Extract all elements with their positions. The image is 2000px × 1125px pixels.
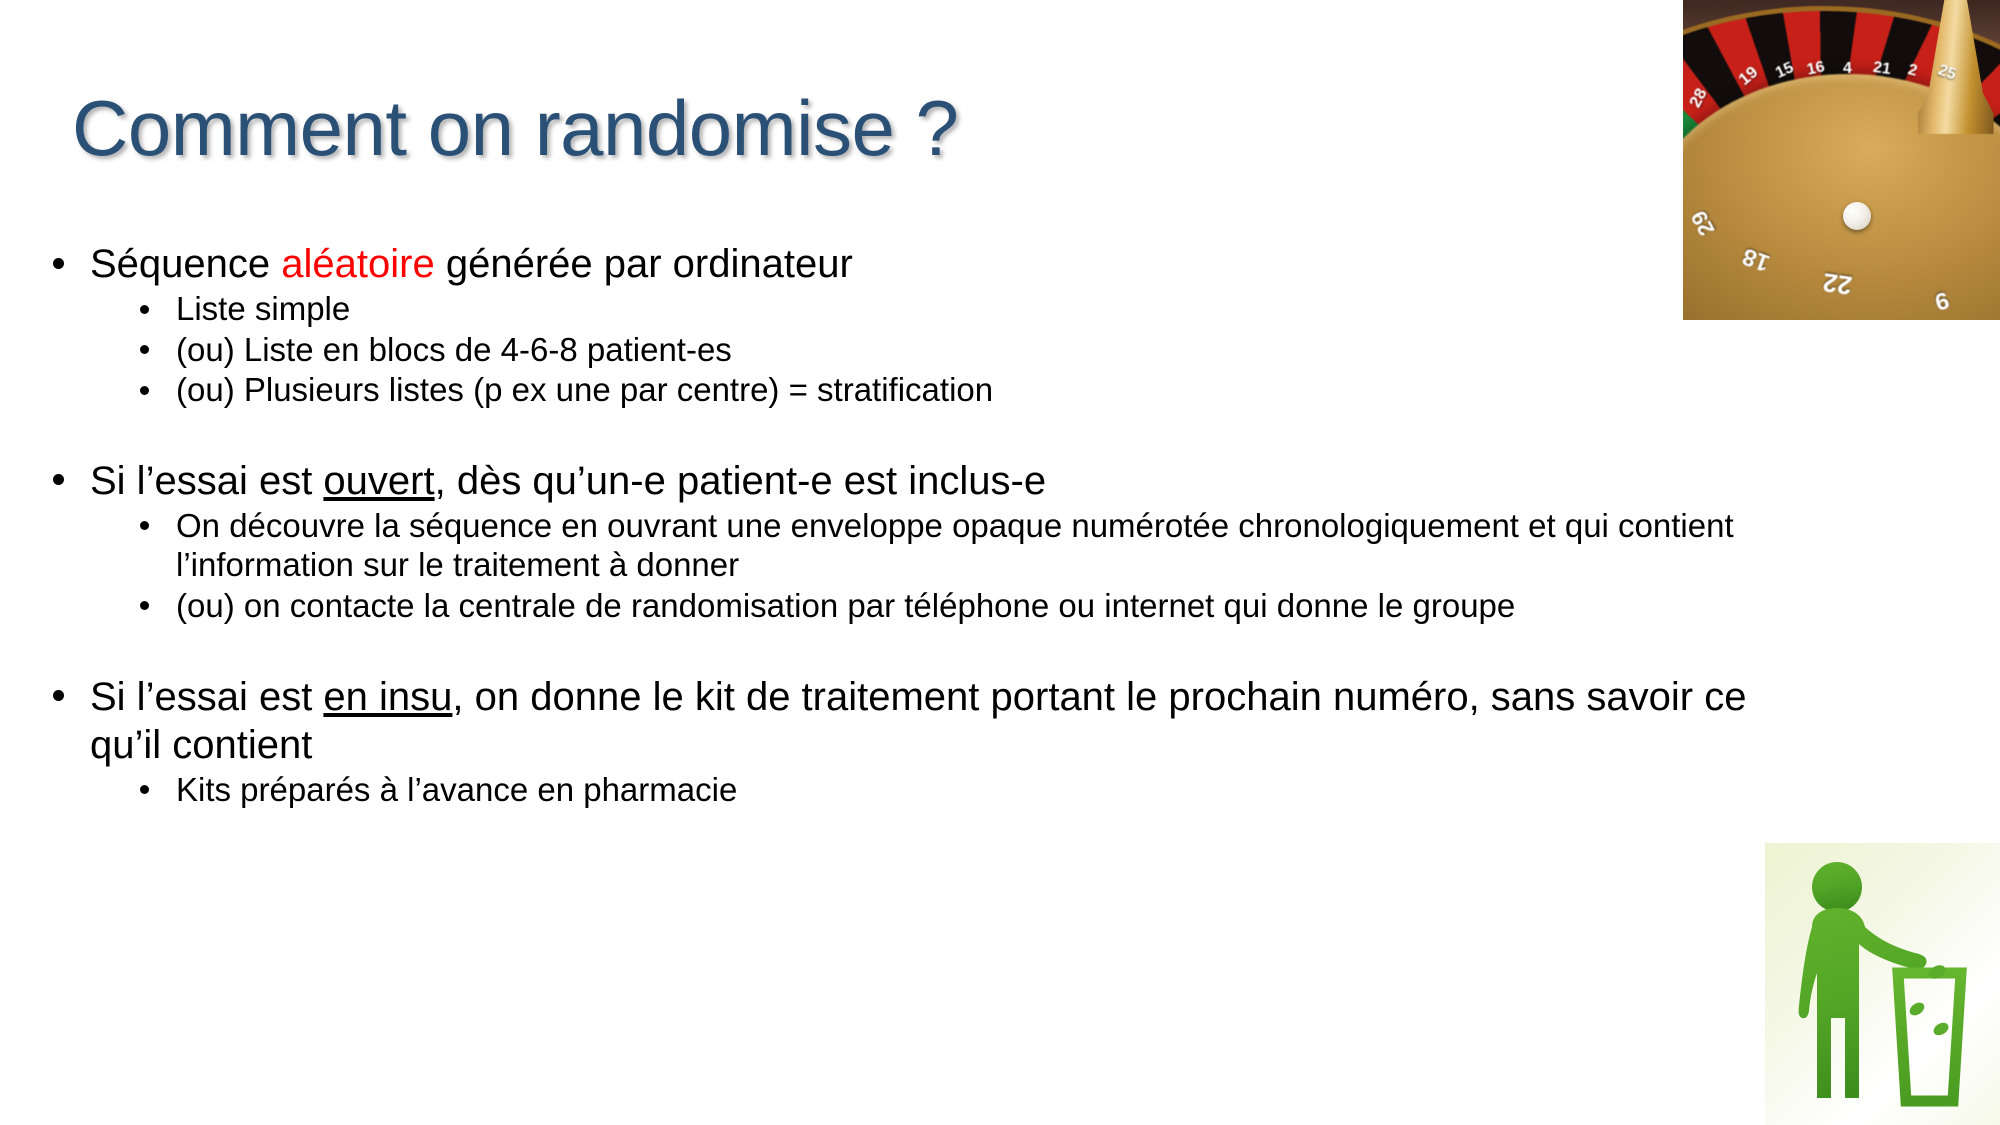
bullet-dot-icon	[140, 305, 149, 314]
roulette-wheel-image: 28 19 15 16 4 21 2 25 29 18 22 9	[1683, 0, 2000, 320]
bullet-text: On découvre la séquence en ouvrant une e…	[176, 507, 1734, 584]
figure-head-icon	[1812, 862, 1862, 912]
roulette-number-4: 4	[1843, 60, 1852, 78]
bullet-dot-icon	[140, 785, 149, 794]
bullet-item-level1: Si l’essai est en insu, on donne le kit …	[48, 673, 1808, 769]
bullet-item-level1: Si l’essai est ouvert, dès qu’un-e patie…	[48, 457, 1808, 505]
bullet-dot-icon	[53, 690, 64, 701]
bullet-dot-icon	[53, 258, 64, 269]
bullet-dot-icon	[140, 601, 149, 610]
bullet-text: Si l’essai est	[90, 675, 323, 719]
trash-bin-icon	[1898, 973, 1961, 1101]
bullet-item-level2: Liste simple	[48, 289, 1808, 329]
bullet-item-level2: Kits préparés à l’avance en pharmacie	[48, 770, 1808, 810]
highlighted-text: aléatoire	[281, 242, 434, 286]
bullet-text: (ou) on contacte la centrale de randomis…	[176, 587, 1515, 624]
underlined-text: en insu	[323, 675, 452, 719]
bullet-item-level2: (ou) Plusieurs listes (p ex une par cent…	[48, 370, 1808, 410]
bullet-text: Séquence	[90, 242, 281, 286]
roulette-number-16: 16	[1805, 58, 1826, 79]
bullet-dot-icon	[140, 521, 149, 530]
slide-title: Comment on randomise ?	[72, 88, 1572, 170]
bullet-dot-icon	[53, 474, 64, 485]
bullet-item-level2: On découvre la séquence en ouvrant une e…	[48, 506, 1808, 585]
litter-piece-2	[1907, 1000, 1926, 1018]
bullet-text: , dès qu’un-e patient-e est inclus-e	[435, 459, 1046, 503]
bullet-dot-icon	[140, 345, 149, 354]
litter-piece-3	[1931, 1020, 1950, 1038]
roulette-number-21: 21	[1872, 59, 1892, 79]
bullet-text: Si l’essai est	[90, 459, 323, 503]
bullet-text: (ou) Plusieurs listes (p ex une par cent…	[176, 371, 993, 408]
bin-group	[1898, 962, 1961, 1101]
bullet-dot-icon	[140, 386, 149, 395]
bullet-text: Liste simple	[176, 290, 350, 327]
underlined-text: ouvert	[323, 459, 434, 503]
bullet-group-spacer	[48, 411, 1808, 457]
roulette-number-22: 22	[1821, 266, 1854, 301]
keep-tidy-image	[1765, 843, 2000, 1125]
bullet-group-spacer	[48, 627, 1808, 673]
bullet-text: générée par ordinateur	[435, 242, 853, 286]
bullet-item-level2: (ou) on contacte la centrale de randomis…	[48, 586, 1808, 626]
bullet-text: (ou) Liste en blocs de 4-6-8 patient-es	[176, 331, 732, 368]
slide-body-content: Séquence aléatoire générée par ordinateu…	[48, 240, 1808, 810]
bullet-item-level1: Séquence aléatoire générée par ordinateu…	[48, 240, 1808, 288]
bullet-text: Kits préparés à l’avance en pharmacie	[176, 771, 737, 808]
presentation-slide: Comment on randomise ? Séquence aléatoir…	[0, 0, 2000, 1125]
bullet-item-level2: (ou) Liste en blocs de 4-6-8 patient-es	[48, 330, 1808, 370]
litter-piece-1	[1926, 962, 1948, 981]
roulette-ball	[1843, 202, 1871, 230]
